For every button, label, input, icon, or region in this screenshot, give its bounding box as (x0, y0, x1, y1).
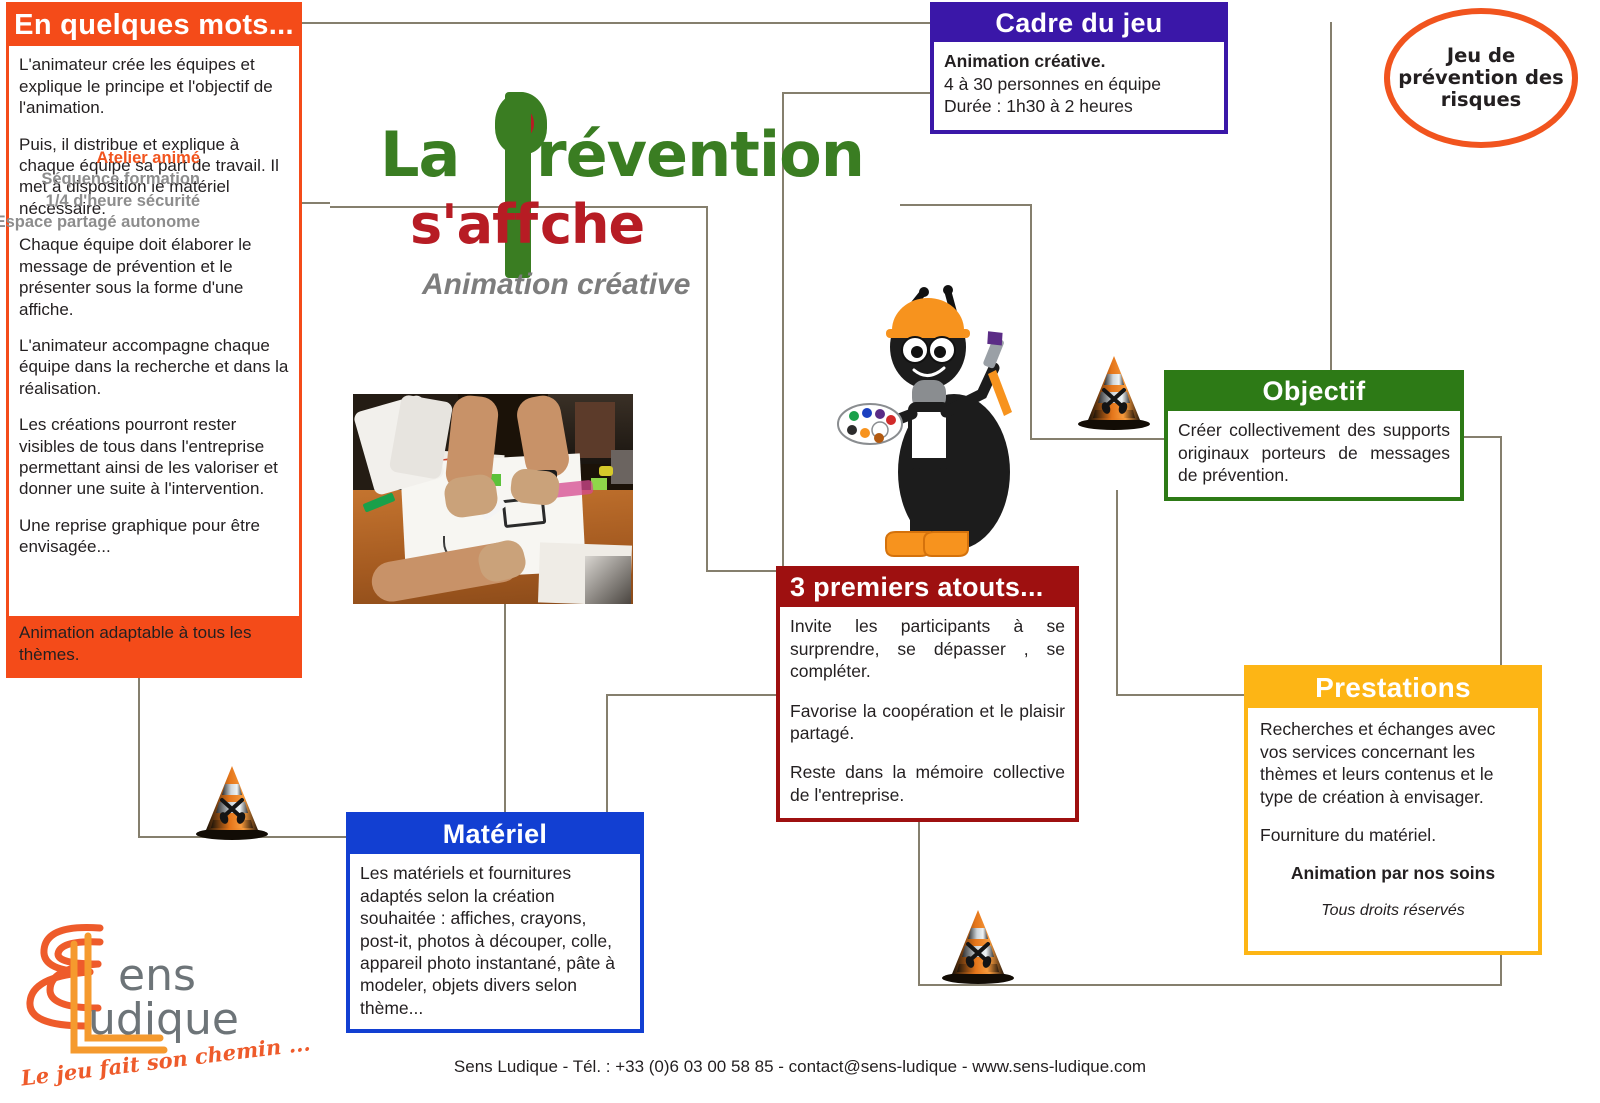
traffic-cone-icon (186, 762, 278, 840)
badge-jeu-prevention: Jeu de prévention des risques (1384, 8, 1584, 148)
badge-list-item: Séquence formation (0, 169, 200, 190)
title-word-che: che (540, 193, 644, 256)
panel-mots-paragraph: L'animateur accompagne chaque équipe dan… (19, 335, 290, 399)
card-prestations-strong: Animation par nos soins (1260, 862, 1526, 884)
connector-objectif-right-h (1464, 436, 1502, 438)
panel-mots-paragraph: L'animateur crée les équipes et explique… (19, 54, 290, 118)
connector-prest-left (1116, 694, 1246, 696)
card-materiel: Matériel Les matériels et fournitures ad… (346, 812, 644, 1033)
card-objectif-body: Créer collectivement des supports origin… (1168, 411, 1460, 496)
traffic-cone-icon (1068, 352, 1160, 430)
panel-en-quelques-mots: En quelques mots... L'animateur crée les… (6, 2, 302, 678)
card-atouts-item: Favorise la coopération et le plaisir pa… (790, 700, 1065, 745)
panel-mots-paragraph: Les créations pourront rester visibles d… (19, 414, 290, 500)
card-trois-premiers-atouts: 3 premiers atouts... Invite les particip… (776, 566, 1079, 822)
poster-title-logo: La révention s'aff che Animation créativ… (352, 70, 752, 310)
panel-mots-header: En quelques mots... (9, 5, 299, 46)
card-prestations-p1: Recherches et échanges avec vos services… (1260, 718, 1526, 808)
connector-atouts-bottom-v (918, 820, 920, 984)
card-atouts-item: Reste dans la mémoire collective de l'en… (790, 761, 1065, 806)
connector-cadre-drop (1330, 22, 1332, 372)
card-prestations-rights: Tous droits réservés (1260, 901, 1526, 921)
card-objectif: Objectif Créer collectivement des suppor… (1164, 370, 1464, 501)
card-cadre-line-bold: Animation créative. (944, 50, 1214, 72)
card-cadre-header: Cadre du jeu (934, 6, 1224, 42)
title-word-saff: s'aff (410, 193, 537, 256)
card-atouts-body: Invite les participants à se surprendre,… (780, 607, 1075, 818)
card-prestations-p2: Fourniture du matériel. (1260, 824, 1526, 846)
card-objectif-header: Objectif (1168, 374, 1460, 411)
connector-objectif-top (900, 204, 1032, 206)
card-prestations-body: Recherches et échanges avec vos services… (1248, 708, 1538, 951)
card-atouts-header: 3 premiers atouts... (780, 570, 1075, 607)
connector-bottom-h (918, 984, 1502, 986)
traffic-cone-icon (932, 906, 1024, 984)
connector-mots-bottom-v (138, 676, 140, 836)
title-word-prevention: révention (536, 118, 864, 191)
connector-mots-to-cadre (302, 22, 932, 24)
connector-to-atouts (706, 570, 782, 572)
panel-mots-note: Animation adaptable à tous les thèmes. (9, 616, 299, 665)
card-materiel-header: Matériel (350, 816, 640, 854)
card-cadre-du-jeu: Cadre du jeu Animation créative. 4 à 30 … (930, 2, 1228, 134)
card-cadre-body: Animation créative. 4 à 30 personnes en … (934, 42, 1224, 129)
connector-photo-to-materiel (504, 604, 506, 816)
card-materiel-body: Les matériels et fournitures adaptés sel… (350, 854, 640, 1029)
connector-atouts-mid (606, 694, 780, 696)
card-cadre-line-capacity: 4 à 30 personnes en équipe (944, 73, 1214, 95)
infographic-poster: En quelques mots... L'animateur crée les… (0, 0, 1600, 1103)
sens-ludique-logo: ens udique Le jeu fait son chemin ... (12, 898, 312, 1078)
connector-objectif-left (1030, 438, 1166, 440)
connector-objectif-right-v (1500, 436, 1502, 694)
connector-cadre-left-stub (782, 92, 932, 94)
title-subtitle: Animation créative (422, 268, 690, 302)
connector-mots-mid (302, 202, 330, 204)
badge-format-list: Atelier animé Séquence formation 1/4 d'h… (0, 148, 200, 234)
card-prestations: Prestations Recherches et échanges avec … (1244, 665, 1542, 955)
panel-mots-body: L'animateur crée les équipes et explique… (9, 46, 299, 616)
panel-mots-paragraph: Chaque équipe doit élaborer le message d… (19, 234, 290, 320)
connector-atouts-mid-v (606, 694, 608, 816)
panel-mots-paragraph: Une reprise graphique pour être envisagé… (19, 515, 290, 558)
card-cadre-line-duration: Durée : 1h30 à 2 heures (944, 95, 1214, 117)
card-prestations-header: Prestations (1248, 669, 1538, 708)
footer-contact: Sens Ludique - Tél. : +33 (0)6 03 00 58 … (0, 1057, 1600, 1077)
badge-circle: Jeu de prévention des risques (1384, 8, 1578, 148)
logo-text-udique: udique (88, 994, 239, 1045)
badge-list-item: 1/4 d'heure sécurité (0, 191, 200, 212)
ant-mascot-icon (836, 272, 1046, 562)
title-word-la: La (380, 118, 459, 191)
badge-list-item: Espace partagé autonome (0, 212, 200, 233)
badge-highlight: Atelier animé (0, 148, 200, 169)
card-atouts-item: Invite les participants à se surprendre,… (790, 615, 1065, 682)
badge-circle-text: Jeu de prévention des risques (1390, 45, 1572, 110)
connector-prest-left-v (1116, 490, 1118, 696)
workshop-photo (353, 394, 633, 604)
